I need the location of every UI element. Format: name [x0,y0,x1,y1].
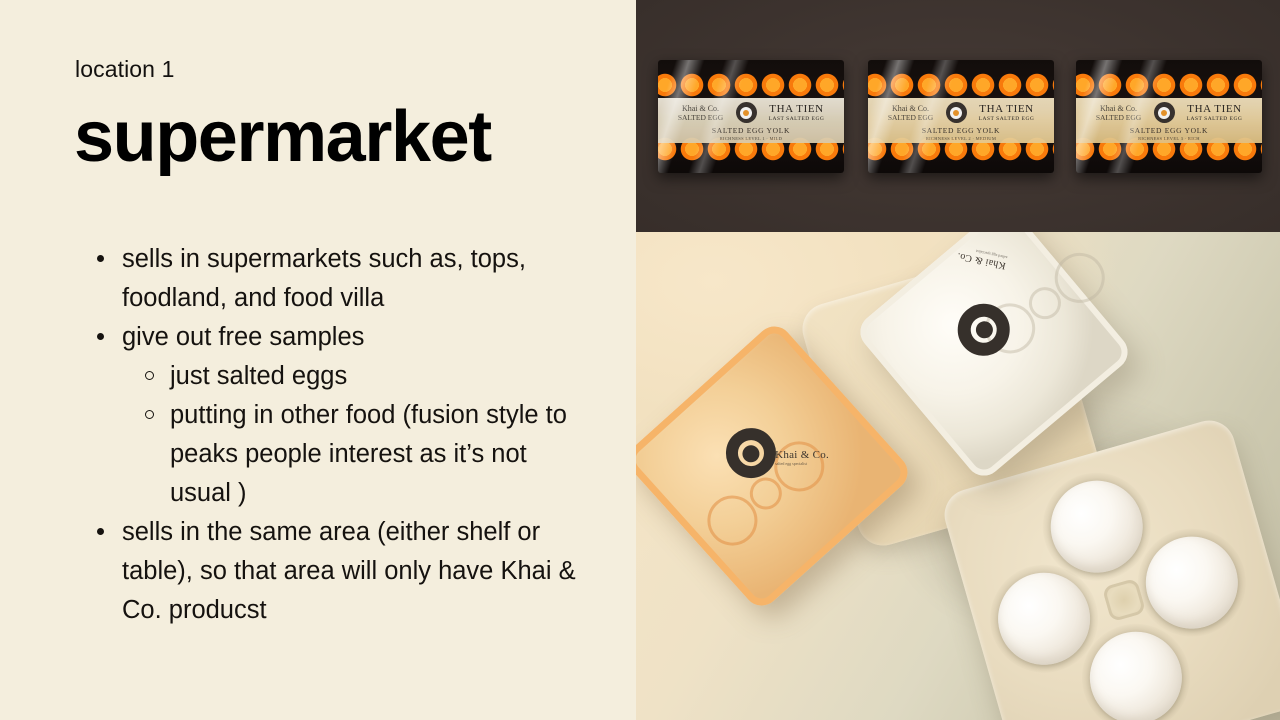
bullet-circle-icon [145,371,154,380]
bullet-circle-icon [145,410,154,419]
packet-brand-left: Khai & Co. SALTED EGG [1088,104,1150,122]
packet-brand-right: THA TIEN LAST SALTED EGG [761,103,833,123]
salted-egg-packet: Khai & Co. SALTED EGG THA TIEN LAST SALT… [658,60,844,173]
slide-eyebrow: location 1 [75,56,174,83]
list-item: sells in supermarkets such as, tops, foo… [88,240,588,318]
list-item-label: putting in other food (fusion style to p… [170,401,567,507]
list-item: give out free samples [88,318,588,357]
egg-cartons-photo: Khai & Co. salted egg specialist Khai & … [636,232,1280,720]
bullet-dot-icon [97,255,104,262]
packet-product-info: SALTED EGG YOLK RICHNESS LEVEL 3 · RICH [1130,126,1208,142]
product-packets-photo: Khai & Co. SALTED EGG THA TIEN LAST SALT… [636,0,1280,232]
packet-label: Khai & Co. SALTED EGG THA TIEN LAST SALT… [1076,98,1262,143]
list-item: just salted eggs [88,357,588,396]
packet-brand-right: THA TIEN LAST SALTED EGG [1179,103,1251,123]
text-panel: location 1 supermarket sells in supermar… [0,0,636,720]
list-item-label: sells in the same area (either shelf or … [122,518,576,624]
bullet-dot-icon [97,528,104,535]
packet-label: Khai & Co. SALTED EGG THA TIEN LAST SALT… [868,98,1054,143]
salted-egg-packet: Khai & Co. SALTED EGG THA TIEN LAST SALT… [868,60,1054,173]
packet-product-info: SALTED EGG YOLK RICHNESS LEVEL 1 · MILD [712,126,790,142]
list-item-label: just salted eggs [170,362,347,390]
packet-brand-left: Khai & Co. SALTED EGG [670,104,732,122]
khai-logo-icon [736,102,757,123]
salted-egg-packet: Khai & Co. SALTED EGG THA TIEN LAST SALT… [1076,60,1262,173]
carton-brand-text: Khai & Co. salted egg specialist [956,245,1008,271]
packet-label: Khai & Co. SALTED EGG THA TIEN LAST SALT… [658,98,844,143]
bullet-list: sells in supermarkets such as, tops, foo… [88,240,588,630]
packet-brand-right: THA TIEN LAST SALTED EGG [971,103,1043,123]
bullet-dot-icon [97,333,104,340]
khai-logo-icon [946,102,967,123]
carton-brand-text: Khai & Co. salted egg specialist [775,449,829,466]
slide: location 1 supermarket sells in supermar… [0,0,1280,720]
list-item: sells in the same area (either shelf or … [88,513,588,630]
packet-product-info: SALTED EGG YOLK RICHNESS LEVEL 2 · MEDIU… [922,126,1000,142]
egg [1135,526,1249,640]
list-item-label: give out free samples [122,323,364,351]
page-title: supermarket [74,100,491,176]
packet-brand-left: Khai & Co. SALTED EGG [880,104,942,122]
list-item: putting in other food (fusion style to p… [88,396,588,513]
khai-logo-icon [1154,102,1175,123]
list-item-label: sells in supermarkets such as, tops, foo… [122,245,526,312]
